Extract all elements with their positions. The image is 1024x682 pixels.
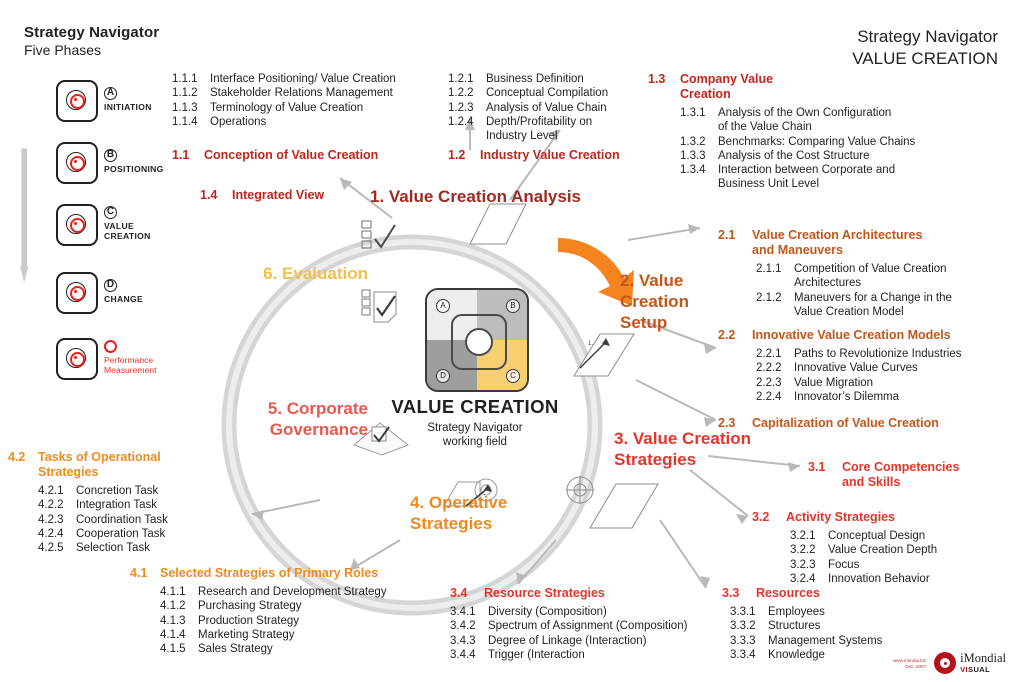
block-item-number: 4.1.1 (160, 585, 198, 599)
block-heading-text: Company Value Creation (680, 72, 773, 102)
block-item: 1.3.3Analysis of the Cost Structure (680, 149, 915, 163)
block-heading: 3.3Resources (722, 586, 882, 601)
block-item-number: 3.2.3 (790, 558, 828, 572)
block-heading-number: 4.2 (8, 450, 38, 480)
block-item-text: Analysis of the Cost Structure (718, 149, 869, 163)
block-item: 3.4.3Degree of Linkage (Interaction) (450, 634, 687, 648)
block-item-number: 3.3.1 (730, 605, 768, 619)
block-item: 3.2.1Conceptual Design (790, 529, 937, 543)
block-item-number: 1.3.4 (680, 163, 718, 192)
block-1-1-heading: 1.1Conception of Value Creation (172, 148, 378, 167)
block-item: 1.3.1Analysis of the Own Configuration o… (680, 106, 915, 135)
block-item-number: 4.1.3 (160, 614, 198, 628)
block-item-number: 2.2.3 (756, 376, 794, 390)
block-4-2: 4.2Tasks of Operational Strategies4.2.1C… (8, 450, 168, 555)
block-item-number: 3.2.2 (790, 543, 828, 557)
block-item-number: 1.2.4 (448, 115, 486, 144)
block-item: 4.2.5Selection Task (38, 541, 168, 555)
block-item: 2.2.2Innovative Value Curves (756, 361, 961, 375)
block-item: 1.2.2Conceptual Compilation (448, 86, 608, 100)
block-item: 3.4.2Spectrum of Assignment (Composition… (450, 619, 687, 633)
logo-url: www.mondai.biz Dec. 2007 (893, 658, 926, 670)
block-item-text: Business Definition (486, 72, 584, 86)
block-item-number: 1.3.3 (680, 149, 718, 163)
cycle-6-text: 6. Evaluation (263, 264, 368, 283)
block-heading-number: 1.4 (200, 188, 232, 203)
block-item-text: Management Systems (768, 634, 882, 648)
block-item: 1.3.2Benchmarks: Comparing Value Chains (680, 135, 915, 149)
block-item-text: Analysis of Value Chain (486, 101, 607, 115)
block-item-text: Innovation Behavior (828, 572, 930, 586)
block-item-number: 1.1.4 (172, 115, 210, 129)
block-item-text: Spectrum of Assignment (Composition) (488, 619, 687, 633)
block-item: 3.4.1Diversity (Composition) (450, 605, 687, 619)
block-1-2-heading: 1.2Industry Value Creation (448, 148, 620, 167)
block-item-text: Structures (768, 619, 820, 633)
block-item-list: 1.1.1Interface Positioning/ Value Creati… (172, 72, 396, 129)
block-heading-number: 1.1 (172, 148, 204, 163)
block-item-number: 1.1.3 (172, 101, 210, 115)
block-heading-number: 3.2 (752, 510, 786, 525)
block-item: 4.1.1Research and Development Strategy (160, 585, 387, 599)
block-item-number: 1.1.1 (172, 72, 210, 86)
block-item: 3.2.2Value Creation Depth (790, 543, 937, 557)
block-item: 4.1.3Production Strategy (160, 614, 387, 628)
block-item: 4.2.4Cooperation Task (38, 527, 168, 541)
block-item: 1.2.3Analysis of Value Chain (448, 101, 608, 115)
block-item-number: 2.2.4 (756, 390, 794, 404)
block-item: 3.2.3Focus (790, 558, 937, 572)
block-heading-number: 3.3 (722, 586, 756, 601)
block-heading-text: Resources (756, 586, 820, 601)
cycle-1-text: 1. Value Creation Analysis (370, 187, 581, 206)
block-item-text: Operations (210, 115, 266, 129)
block-item-list: 1.2.1Business Definition1.2.2Conceptual … (448, 72, 608, 143)
block-heading-text: Tasks of Operational Strategies (38, 450, 161, 480)
block-item-text: Coordination Task (76, 513, 168, 527)
block-item: 1.3.4Interaction between Corporate and B… (680, 163, 915, 192)
block-heading: 3.1Core Competencies and Skills (808, 460, 959, 490)
block-item-number: 3.4.4 (450, 648, 488, 662)
block-item: 2.2.4Innovator’s Dilemma (756, 390, 961, 404)
imondial-logo: www.mondai.biz Dec. 2007 iMondial VISUAL (893, 652, 1006, 674)
block-3-2: 3.2Activity Strategies3.2.1Conceptual De… (752, 510, 937, 586)
block-heading: 2.3Capitalization of Value Creation (718, 416, 939, 431)
block-item-list: 3.3.1Employees3.3.2Structures3.3.3Manage… (730, 605, 882, 662)
block-2-1: 2.1Value Creation Architectures and Mane… (718, 228, 952, 319)
block-3-1: 3.1Core Competencies and Skills (808, 460, 959, 494)
block-heading: 1.1Conception of Value Creation (172, 148, 378, 163)
block-item-text: Interface Positioning/ Value Creation (210, 72, 396, 86)
block-item-list: 3.2.1Conceptual Design3.2.2Value Creatio… (790, 529, 937, 586)
block-heading-text: Industry Value Creation (480, 148, 620, 163)
block-2-2: 2.2Innovative Value Creation Models2.2.1… (718, 328, 961, 404)
block-heading-text: Capitalization of Value Creation (752, 416, 939, 431)
block-item: 1.1.3Terminology of Value Creation (172, 101, 396, 115)
block-heading: 1.3Company Value Creation (648, 72, 915, 102)
block-heading: 1.4Integrated View (200, 188, 324, 203)
block-item-text: Production Strategy (198, 614, 299, 628)
block-item-text: Analysis of the Own Configuration of the… (718, 106, 891, 135)
block-item: 3.2.4Innovation Behavior (790, 572, 937, 586)
cycle-label-5: 5. Corporate Governance (258, 398, 368, 440)
block-item-text: Employees (768, 605, 825, 619)
block-item-text: Trigger (Interaction (488, 648, 585, 662)
logo-subname: VISUAL (960, 665, 1006, 674)
block-heading-text: Conception of Value Creation (204, 148, 378, 163)
block-item-list: 4.2.1Concretion Task4.2.2Integration Tas… (38, 484, 168, 555)
block-item: 4.1.4Marketing Strategy (160, 628, 387, 642)
block-heading-number: 2.1 (718, 228, 752, 258)
block-item-number: 4.2.2 (38, 498, 76, 512)
block-item-list: 4.1.1Research and Development Strategy4.… (160, 585, 387, 656)
block-item-number: 3.4.1 (450, 605, 488, 619)
block-item-text: Depth/Profitability on Industry Level (486, 115, 592, 144)
block-heading-number: 3.4 (450, 586, 484, 601)
logo-subname-vi: VI (960, 665, 968, 674)
block-1-2-items: 1.2.1Business Definition1.2.2Conceptual … (448, 72, 608, 143)
block-item: 3.4.4Trigger (Interaction (450, 648, 687, 662)
block-item-text: Research and Development Strategy (198, 585, 387, 599)
block-item-text: Marketing Strategy (198, 628, 295, 642)
block-item: 2.1.2Maneuvers for a Change in the Value… (756, 291, 952, 320)
block-1-3: 1.3Company Value Creation1.3.1Analysis o… (648, 72, 915, 192)
block-item-number: 4.2.1 (38, 484, 76, 498)
block-item-number: 3.2.4 (790, 572, 828, 586)
imondial-mark-icon (934, 652, 956, 674)
block-item-number: 3.3.3 (730, 634, 768, 648)
block-item-number: 2.1.2 (756, 291, 794, 320)
block-item-text: Innovative Value Curves (794, 361, 918, 375)
block-heading: 2.1Value Creation Architectures and Mane… (718, 228, 952, 258)
block-item-text: Stakeholder Relations Management (210, 86, 393, 100)
block-heading-number: 3.1 (808, 460, 842, 490)
block-item-text: Value Creation Depth (828, 543, 937, 557)
block-item-text: Knowledge (768, 648, 825, 662)
block-item: 1.1.1Interface Positioning/ Value Creati… (172, 72, 396, 86)
block-item-list: 1.3.1Analysis of the Own Configuration o… (680, 106, 915, 192)
block-item: 1.1.4Operations (172, 115, 396, 129)
block-heading-text: Activity Strategies (786, 510, 895, 525)
block-item-text: Diversity (Composition) (488, 605, 607, 619)
block-item-number: 4.1.4 (160, 628, 198, 642)
block-item-number: 3.3.4 (730, 648, 768, 662)
block-item-number: 1.1.2 (172, 86, 210, 100)
block-item-text: Concretion Task (76, 484, 158, 498)
block-item: 2.2.3Value Migration (756, 376, 961, 390)
block-item-text: Innovator’s Dilemma (794, 390, 899, 404)
block-item: 4.2.1Concretion Task (38, 484, 168, 498)
block-item-number: 1.2.2 (448, 86, 486, 100)
block-item: 4.2.3Coordination Task (38, 513, 168, 527)
block-item: 4.1.5Sales Strategy (160, 642, 387, 656)
block-item-text: Paths to Revolutionize Industries (794, 347, 961, 361)
block-heading: 4.1Selected Strategies of Primary Roles (130, 566, 387, 581)
block-item: 1.2.4Depth/Profitability on Industry Lev… (448, 115, 608, 144)
block-item: 3.3.4Knowledge (730, 648, 882, 662)
block-item-number: 1.2.3 (448, 101, 486, 115)
block-2-3: 2.3Capitalization of Value Creation (718, 416, 939, 435)
block-item-number: 4.1.5 (160, 642, 198, 656)
block-item-text: Benchmarks: Comparing Value Chains (718, 135, 915, 149)
cycle-label-4: 4. Operative Strategies (410, 492, 507, 534)
block-heading-text: Core Competencies and Skills (842, 460, 959, 490)
block-item-number: 1.2.1 (448, 72, 486, 86)
cycle-4-text: 4. Operative Strategies (410, 493, 507, 533)
block-item-text: Purchasing Strategy (198, 599, 302, 613)
logo-names: iMondial VISUAL (960, 652, 1006, 674)
block-item: 2.2.1Paths to Revolutionize Industries (756, 347, 961, 361)
block-item: 1.2.1Business Definition (448, 72, 608, 86)
cycle-label-6: 6. Evaluation (258, 263, 368, 284)
block-item-number: 3.4.2 (450, 619, 488, 633)
block-heading-text: Integrated View (232, 188, 324, 203)
block-item-text: Conceptual Design (828, 529, 925, 543)
block-heading-text: Innovative Value Creation Models (752, 328, 951, 343)
block-item-text: Conceptual Compilation (486, 86, 608, 100)
block-heading-number: 2.2 (718, 328, 752, 343)
block-item-text: Sales Strategy (198, 642, 273, 656)
block-item-text: Interaction between Corporate and Busine… (718, 163, 895, 192)
block-3-4: 3.4Resource Strategies3.4.1Diversity (Co… (450, 586, 687, 662)
block-1-4-heading: 1.4Integrated View (200, 188, 324, 207)
block-item-list: 3.4.1Diversity (Composition)3.4.2Spectru… (450, 605, 687, 662)
block-4-1: 4.1Selected Strategies of Primary Roles4… (130, 566, 387, 656)
block-item-number: 2.2.1 (756, 347, 794, 361)
block-heading: 4.2Tasks of Operational Strategies (8, 450, 168, 480)
block-item-number: 2.2.2 (756, 361, 794, 375)
logo-name: iMondial (960, 652, 1006, 665)
block-item: 2.1.1Competition of Value Creation Archi… (756, 262, 952, 291)
block-item-number: 1.3.1 (680, 106, 718, 135)
block-item-text: Maneuvers for a Change in the Value Crea… (794, 291, 952, 320)
block-item-text: Competition of Value Creation Architectu… (794, 262, 947, 291)
block-item-text: Terminology of Value Creation (210, 101, 363, 115)
cycle-label-1: 1. Value Creation Analysis (370, 187, 581, 207)
block-item-text: Integration Task (76, 498, 157, 512)
block-item-number: 4.2.5 (38, 541, 76, 555)
block-item-number: 4.2.3 (38, 513, 76, 527)
block-item-number: 4.1.2 (160, 599, 198, 613)
block-item-number: 1.3.2 (680, 135, 718, 149)
block-heading-text: Resource Strategies (484, 586, 605, 601)
block-item-text: Selection Task (76, 541, 150, 555)
block-item-number: 3.3.2 (730, 619, 768, 633)
block-heading-number: 2.3 (718, 416, 752, 431)
block-item-number: 3.4.3 (450, 634, 488, 648)
block-item-number: 2.1.1 (756, 262, 794, 291)
block-item-list: 2.2.1Paths to Revolutionize Industries2.… (756, 347, 961, 404)
block-item: 4.1.2Purchasing Strategy (160, 599, 387, 613)
block-heading: 2.2Innovative Value Creation Models (718, 328, 961, 343)
block-item-list: 2.1.1Competition of Value Creation Archi… (756, 262, 952, 319)
block-heading: 3.4Resource Strategies (450, 586, 687, 601)
block-item-number: 4.2.4 (38, 527, 76, 541)
cycle-2-text: 2. Value Creation Setup (620, 271, 689, 332)
block-1-1-items: 1.1.1Interface Positioning/ Value Creati… (172, 72, 396, 129)
block-item-number: 3.2.1 (790, 529, 828, 543)
block-heading: 1.2Industry Value Creation (448, 148, 620, 163)
block-heading-text: Value Creation Architectures and Maneuve… (752, 228, 922, 258)
block-heading-number: 1.2 (448, 148, 480, 163)
block-item-text: Degree of Linkage (Interaction) (488, 634, 647, 648)
cycle-label-2: 2. Value Creation Setup (620, 270, 689, 333)
block-3-3: 3.3Resources3.3.1Employees3.3.2Structure… (722, 586, 882, 662)
block-item-text: Value Migration (794, 376, 873, 390)
cycle-3-text: 3. Value Creation Strategies (614, 429, 751, 469)
block-item-text: Focus (828, 558, 859, 572)
block-item: 1.1.2Stakeholder Relations Management (172, 86, 396, 100)
block-item: 3.3.3Management Systems (730, 634, 882, 648)
block-item-text: Cooperation Task (76, 527, 165, 541)
cycle-5-text: 5. Corporate Governance (268, 399, 368, 439)
block-item: 3.3.2Structures (730, 619, 882, 633)
logo-subname-sual: SUAL (968, 665, 990, 674)
block-item: 4.2.2Integration Task (38, 498, 168, 512)
block-heading-text: Selected Strategies of Primary Roles (160, 566, 378, 581)
block-heading: 3.2Activity Strategies (752, 510, 937, 525)
block-item: 3.3.1Employees (730, 605, 882, 619)
block-heading-number: 4.1 (130, 566, 160, 581)
block-heading-number: 1.3 (648, 72, 680, 102)
